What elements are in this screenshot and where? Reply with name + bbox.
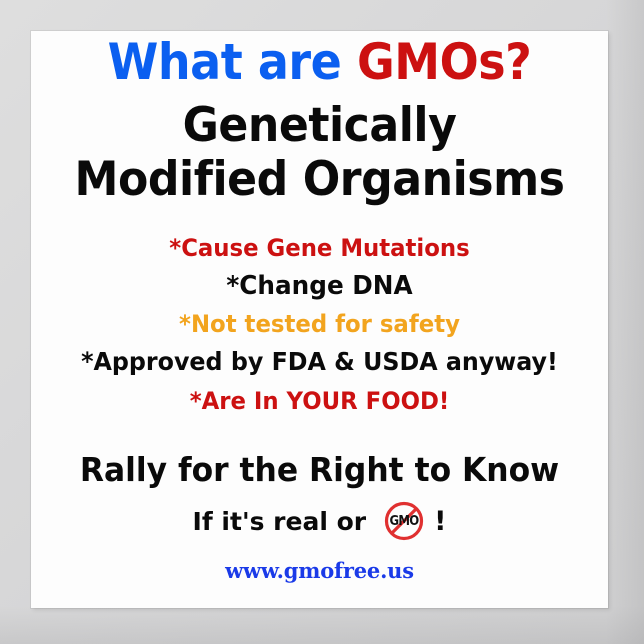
frame-shade-bottom (0, 606, 644, 644)
headline-part-gmos: GMOs? (357, 33, 531, 91)
call-to-action: Rally for the Right to Know If it's real… (31, 453, 608, 542)
headline-part-what-are: What are (108, 33, 342, 91)
cta-real-or-row: If it's real or GMO ! (31, 500, 608, 542)
poster-frame: What areGMOs? Genetically Modified Organ… (0, 0, 644, 644)
cta-exclamation-mark: ! (434, 508, 446, 535)
cta-real-or-text: If it's real or (193, 509, 367, 534)
cta-rally-line: Rally for the Right to Know (45, 453, 593, 486)
subheading-line-genetically: Genetically (48, 103, 590, 149)
frame-shade-right (606, 0, 644, 644)
claim-item-in-your-food: *Are In YOUR FOOD! (45, 389, 593, 413)
claim-item-change-dna: *Change DNA (45, 273, 593, 299)
claim-item-not-tested: *Not tested for safety (45, 312, 593, 336)
poster-subheading: Genetically Modified Organisms (31, 103, 608, 203)
poster-sheet: What areGMOs? Genetically Modified Organ… (31, 31, 608, 608)
no-gmo-icon: GMO (383, 500, 425, 542)
claim-item-approved-fda-usda: *Approved by FDA & USDA anyway! (45, 349, 593, 374)
poster-headline: What areGMOs? (54, 37, 585, 87)
website-url[interactable]: www.gmofree.us (31, 558, 608, 583)
subheading-line-modified-organisms: Modified Organisms (48, 157, 590, 203)
claims-list: *Cause Gene Mutations *Change DNA *Not t… (31, 236, 608, 413)
claim-item-gene-mutations: *Cause Gene Mutations (45, 236, 593, 260)
